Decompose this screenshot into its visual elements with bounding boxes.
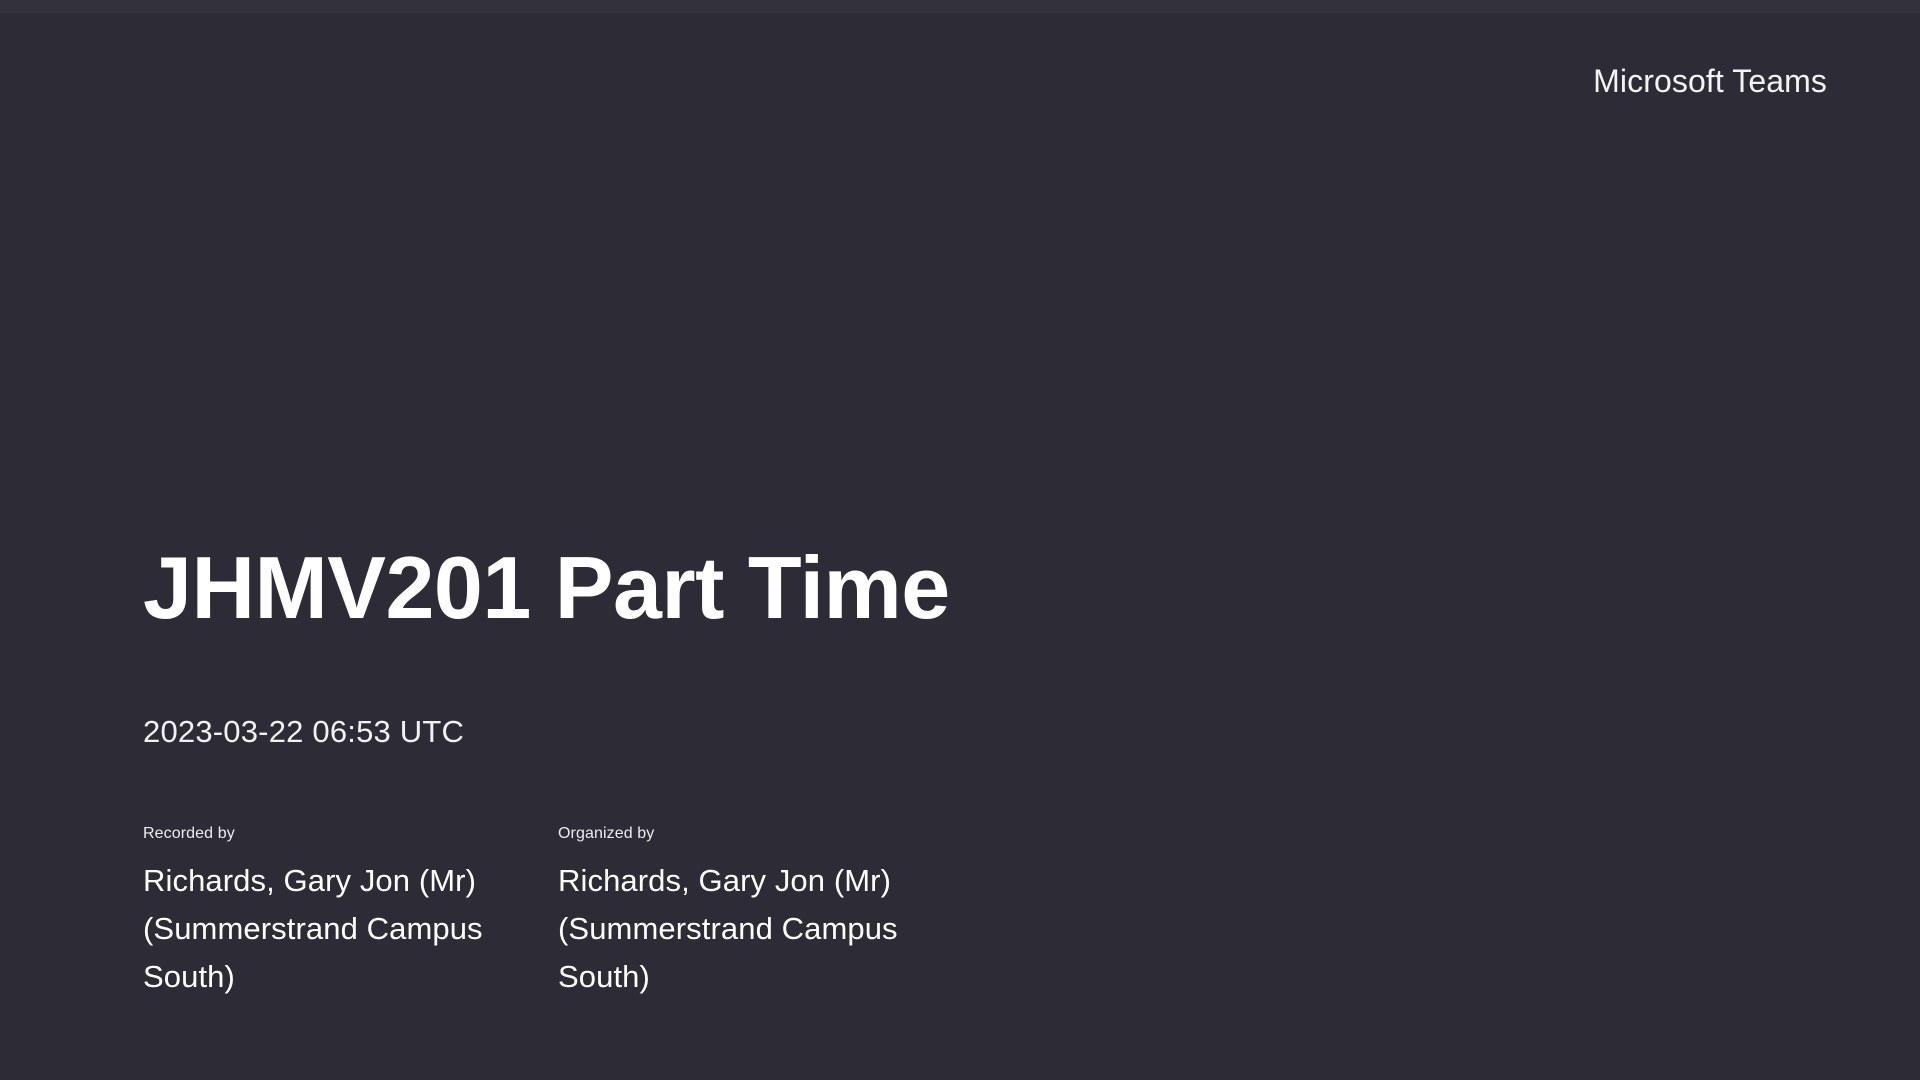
credit-recorded-by: Recorded by Richards, Gary Jon (Mr) (Sum… [143,824,528,1001]
top-edge-band [0,0,1920,13]
credit-label-organized-by: Organized by [558,824,943,844]
credit-name-organized-by: Richards, Gary Jon (Mr) (Summerstrand Ca… [558,857,943,1001]
page-title: JHMV201 Part Time [143,542,950,634]
credit-label-recorded-by: Recorded by [143,824,528,844]
recording-title-slide: Microsoft Teams JHMV201 Part Time 2023-0… [0,0,1920,1080]
credit-organized-by: Organized by Richards, Gary Jon (Mr) (Su… [558,824,943,1001]
credits-row: Recorded by Richards, Gary Jon (Mr) (Sum… [143,824,943,1001]
app-brand-label: Microsoft Teams [1593,62,1827,100]
credit-name-recorded-by: Richards, Gary Jon (Mr) (Summerstrand Ca… [143,857,528,1001]
recording-timestamp: 2023-03-22 06:53 UTC [143,713,464,750]
